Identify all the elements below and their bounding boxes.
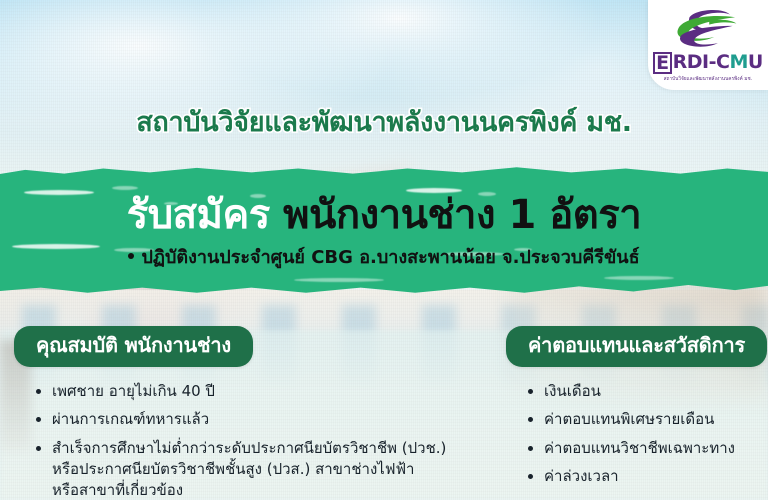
logo-badge: ERDI-CMU สถาบันวิจัยและพัฒนาพลังงานนครพิ… xyxy=(648,0,768,90)
list-item-line: เพศชาย อายุไม่เกิน 40 ปี xyxy=(52,381,486,402)
list-item-line: ค่าล่วงเวลา xyxy=(544,466,762,487)
headline-highlight: รับสมัคร xyxy=(127,192,270,238)
job-announcement-poster: ERDI-CMU สถาบันวิจัยและพัฒนาพลังงานนครพิ… xyxy=(0,0,768,500)
list-item-line: สำเร็จการศึกษาไม่ต่ำกว่าระดับประกาศนียบั… xyxy=(52,438,486,459)
list-item: สำเร็จการศึกษาไม่ต่ำกว่าระดับประกาศนียบั… xyxy=(36,438,486,500)
list-item-line: ค่าตอบแทนพิเศษรายเดือน xyxy=(544,409,762,430)
qualifications-section: คุณสมบัติ พนักงานช่าง เพศชาย อายุไม่เกิน… xyxy=(0,326,492,500)
logo-letter-m: M xyxy=(729,53,747,72)
compensation-section: ค่าตอบแทนและสวัสดิการ เงินเดือน ค่าตอบแท… xyxy=(492,326,768,500)
logo-letters-rdic: RDI-C xyxy=(673,53,730,72)
qualifications-pill-label: คุณสมบัติ พนักงานช่าง xyxy=(14,326,253,367)
detail-columns: คุณสมบัติ พนักงานช่าง เพศชาย อายุไม่เกิน… xyxy=(0,326,768,500)
logo-letter-u: U xyxy=(748,53,763,72)
headline-main: พนักงานช่าง 1 อัตรา xyxy=(283,192,641,238)
banner-content: รับสมัคร พนักงานช่าง 1 อัตรา ปฏิบัติงานป… xyxy=(0,166,768,294)
erdi-cmu-swoosh-icon xyxy=(671,7,745,51)
banner-headline: รับสมัคร พนักงานช่าง 1 อัตรา xyxy=(127,194,641,236)
list-item-line: เงินเดือน xyxy=(544,381,762,402)
list-item: ค่าตอบแทนวิชาชีพเฉพาะทาง xyxy=(528,438,762,459)
logo-subtitle: สถาบันวิจัยและพัฒนาพลังงานนครพิงค์ มช. xyxy=(664,76,753,84)
list-item: ค่าล่วงเวลา xyxy=(528,466,762,487)
bullet-dot-icon xyxy=(128,253,134,259)
list-item-line: หรือสาขาที่เกี่ยวข้อง xyxy=(52,480,486,500)
qualifications-list: เพศชาย อายุไม่เกิน 40 ปี ผ่านการเกณฑ์ทหา… xyxy=(14,381,492,500)
list-item-line: ผ่านการเกณฑ์ทหารแล้ว xyxy=(52,409,486,430)
list-item: ค่าตอบแทนพิเศษรายเดือน xyxy=(528,409,762,430)
page-title: สถาบันวิจัยและพัฒนาพลังงานนครพิงค์ มช. xyxy=(0,108,768,138)
compensation-pill-label: ค่าตอบแทนและสวัสดิการ xyxy=(506,326,767,367)
logo-wordmark: ERDI-CMU xyxy=(653,52,763,74)
banner-subline-text: ปฏิบัติงานประจำศูนย์ CBG อ.บางสะพานน้อย … xyxy=(141,242,639,271)
list-item-line: ค่าตอบแทนวิชาชีพเฉพาะทาง xyxy=(544,438,762,459)
logo-letter-e: E xyxy=(653,52,671,74)
list-item: เพศชาย อายุไม่เกิน 40 ปี xyxy=(36,381,486,402)
list-item: เงินเดือน xyxy=(528,381,762,402)
banner-subline: ปฏิบัติงานประจำศูนย์ CBG อ.บางสะพานน้อย … xyxy=(128,242,639,271)
list-item: ผ่านการเกณฑ์ทหารแล้ว xyxy=(36,409,486,430)
headline-banner: รับสมัคร พนักงานช่าง 1 อัตรา ปฏิบัติงานป… xyxy=(0,166,768,294)
list-item-line: หรือประกาศนียบัตรวิชาชีพชั้นสูง (ปวส.) ส… xyxy=(52,459,486,480)
compensation-list: เงินเดือน ค่าตอบแทนพิเศษรายเดือน ค่าตอบแ… xyxy=(506,381,768,487)
